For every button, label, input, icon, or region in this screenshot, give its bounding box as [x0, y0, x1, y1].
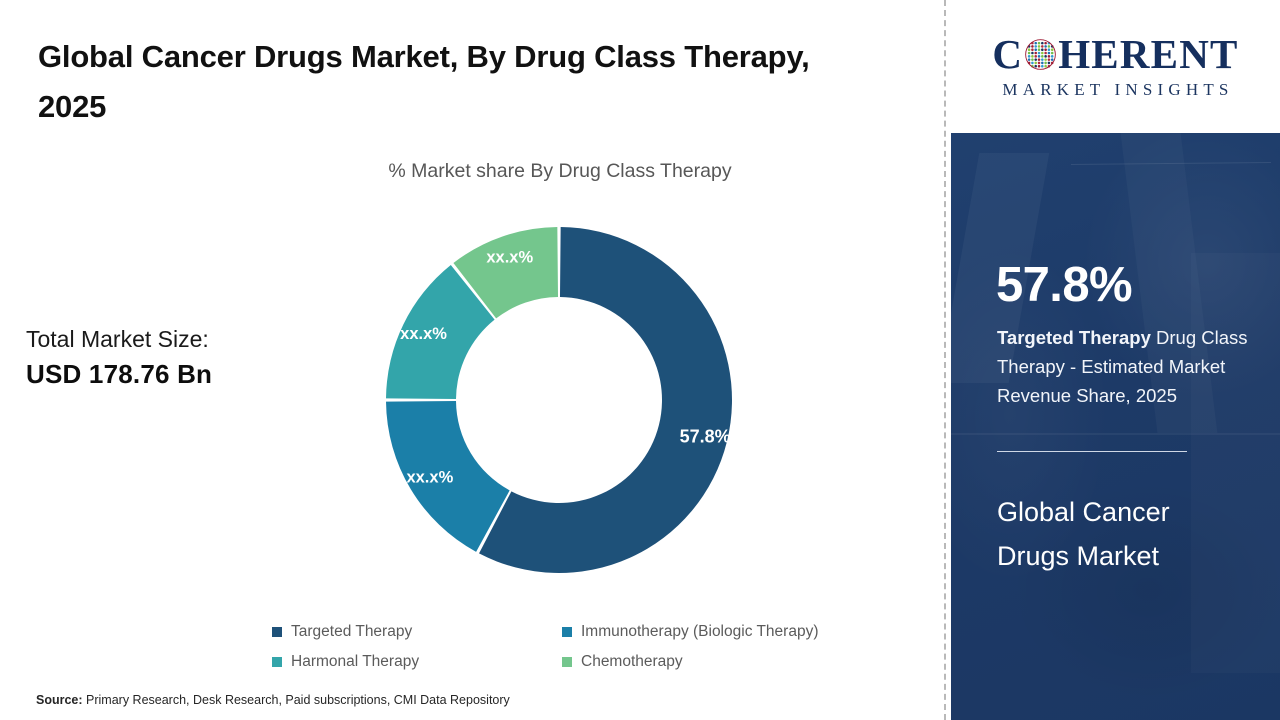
panel-divider — [944, 0, 946, 720]
infographic-page: Global Cancer Drugs Market, By Drug Clas… — [0, 0, 1280, 720]
logo-wordmark-after: HERENT — [1058, 34, 1238, 75]
legend-item-targeted-therapy[interactable]: Targeted Therapy — [272, 623, 562, 641]
sidebar-stat-caption: Targeted Therapy Drug Class Therapy - Es… — [997, 323, 1255, 410]
main-content-panel: Global Cancer Drugs Market, By Drug Clas… — [0, 0, 945, 720]
donut-slice-label: 57.8% — [680, 427, 731, 447]
sidebar-market-name: Global Cancer Drugs Market — [997, 490, 1247, 578]
sidebar-divider-rule — [997, 451, 1187, 452]
logo-tagline: MARKET INSIGHTS — [997, 80, 1233, 100]
source-line: Source: Primary Research, Desk Research,… — [36, 693, 510, 707]
sidebar-stat-caption-bold: Targeted Therapy — [997, 327, 1151, 348]
total-market-size-block: Total Market Size: USD 178.76 Bn — [26, 322, 326, 392]
legend-swatch-icon — [562, 657, 572, 667]
background-streak — [1191, 253, 1280, 673]
donut-slice-label: xx.x% — [400, 325, 447, 343]
donut-slices — [386, 227, 732, 573]
page-title: Global Cancer Drugs Market, By Drug Clas… — [38, 32, 838, 132]
legend-item-label: Targeted Therapy — [291, 623, 412, 641]
legend-swatch-icon — [272, 657, 282, 667]
sidebar: C HERENT MARKET INSIGHTS 57.8% Targeted … — [951, 0, 1280, 720]
donut-chart-svg: 57.8%xx.x%xx.x%xx.x% — [383, 224, 735, 576]
sidebar-stat-value: 57.8% — [996, 261, 1132, 310]
donut-chart: 57.8%xx.x%xx.x%xx.x% — [383, 224, 735, 576]
chart-legend: Targeted Therapy Immunotherapy (Biologic… — [272, 617, 872, 677]
logo-wordmark: C HERENT — [992, 34, 1238, 75]
legend-swatch-icon — [272, 627, 282, 637]
total-market-size-value: USD 178.76 Bn — [26, 356, 326, 392]
source-label: Source: — [36, 693, 83, 707]
legend-item-chemotherapy[interactable]: Chemotherapy — [562, 653, 872, 671]
chart-subtitle: % Market share By Drug Class Therapy — [250, 160, 870, 183]
sidebar-stat-panel: 57.8% Targeted Therapy Drug Class Therap… — [951, 133, 1280, 720]
dot-sphere-icon — [1024, 38, 1057, 71]
source-text: Primary Research, Desk Research, Paid su… — [83, 693, 510, 707]
donut-slice-label: xx.x% — [486, 249, 533, 267]
total-market-size-label: Total Market Size: — [26, 322, 326, 356]
legend-item-harmonal-therapy[interactable]: Harmonal Therapy — [272, 653, 562, 671]
legend-item-immunotherapy[interactable]: Immunotherapy (Biologic Therapy) — [562, 623, 872, 641]
donut-slice-label: xx.x% — [406, 468, 453, 486]
legend-item-label: Harmonal Therapy — [291, 653, 419, 671]
legend-item-label: Chemotherapy — [581, 653, 683, 671]
legend-item-label: Immunotherapy (Biologic Therapy) — [581, 623, 819, 641]
background-streak — [951, 433, 1280, 435]
brand-logo[interactable]: C HERENT MARKET INSIGHTS — [951, 0, 1280, 133]
legend-swatch-icon — [562, 627, 572, 637]
logo-wordmark-before: C — [992, 34, 1023, 75]
